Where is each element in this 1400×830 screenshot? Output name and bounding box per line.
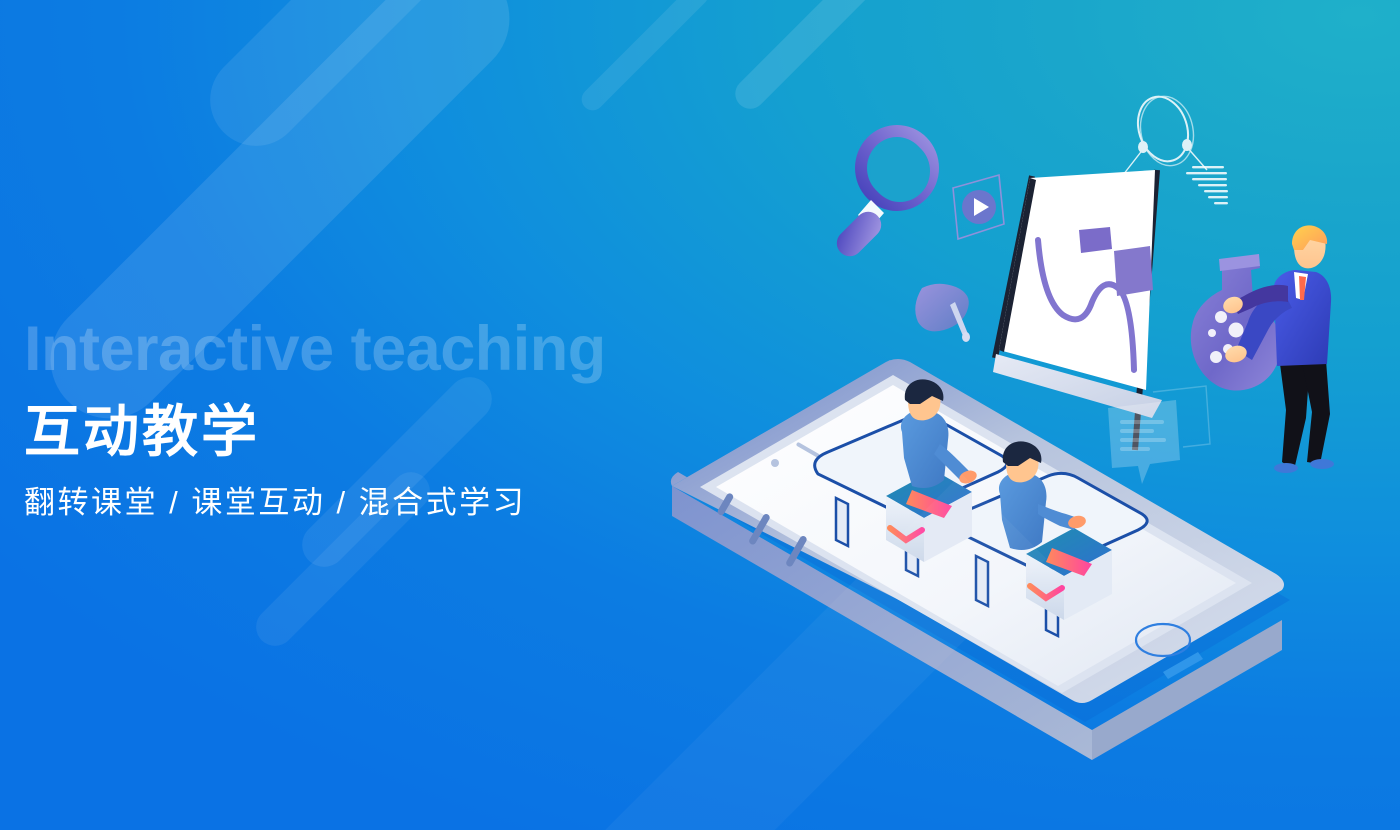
- ghost-title: Interactive teaching: [24, 318, 784, 381]
- decorative-bar: [191, 0, 525, 165]
- hero-banner: Interactive teaching 互动教学 翻转课堂 / 课堂互动 / …: [0, 0, 1400, 830]
- atom-orbit-icon: [1123, 90, 1207, 175]
- decorative-bar: [577, 0, 713, 115]
- decorative-bar: [594, 474, 1047, 830]
- decorative-bar: [729, 0, 913, 115]
- chat-bubble-icon: [1108, 386, 1210, 484]
- flask-icon: [1191, 254, 1281, 391]
- subtitle: 翻转课堂 / 课堂互动 / 混合式学习: [24, 484, 784, 521]
- magnifier-icon: [831, 125, 939, 262]
- teacher-with-flask-figure: [1191, 225, 1334, 473]
- tablet-home-button: [1136, 624, 1190, 656]
- page-title: 互动教学: [24, 401, 784, 464]
- easel-chart-icon: [993, 170, 1162, 450]
- banner-copy: Interactive teaching 互动教学 翻转课堂 / 课堂互动 / …: [24, 318, 784, 521]
- atom-text-lines: [1110, 166, 1228, 204]
- video-play-icon: [953, 175, 1004, 239]
- graduation-cap-icon: [915, 284, 970, 342]
